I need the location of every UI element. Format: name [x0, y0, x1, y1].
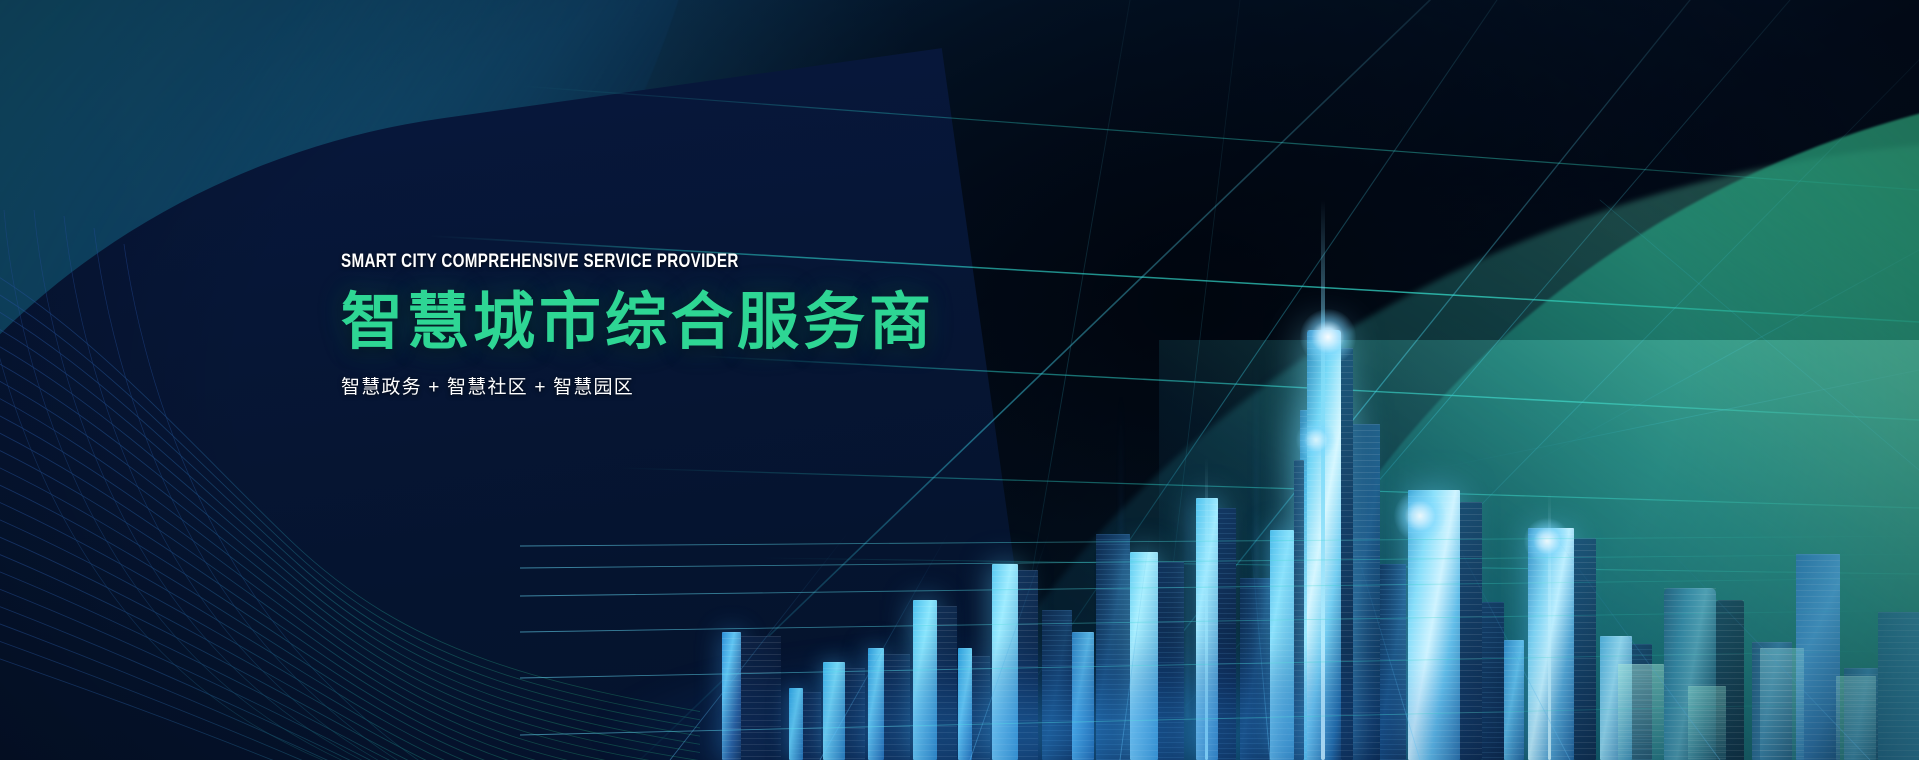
hero-subline: 智慧政务 + 智慧社区 + 智慧园区 [341, 372, 935, 399]
smart-city-hero-banner: SMART CITY COMPREHENSIVE SERVICE PROVIDE… [0, 0, 1919, 760]
hero-headline: 智慧城市综合服务商 [341, 290, 935, 357]
hero-copy-block: SMART CITY COMPREHENSIVE SERVICE PROVIDE… [341, 252, 935, 399]
perspective-grid-floor [520, 530, 1919, 760]
hero-eyebrow: SMART CITY COMPREHENSIVE SERVICE PROVIDE… [341, 252, 816, 273]
